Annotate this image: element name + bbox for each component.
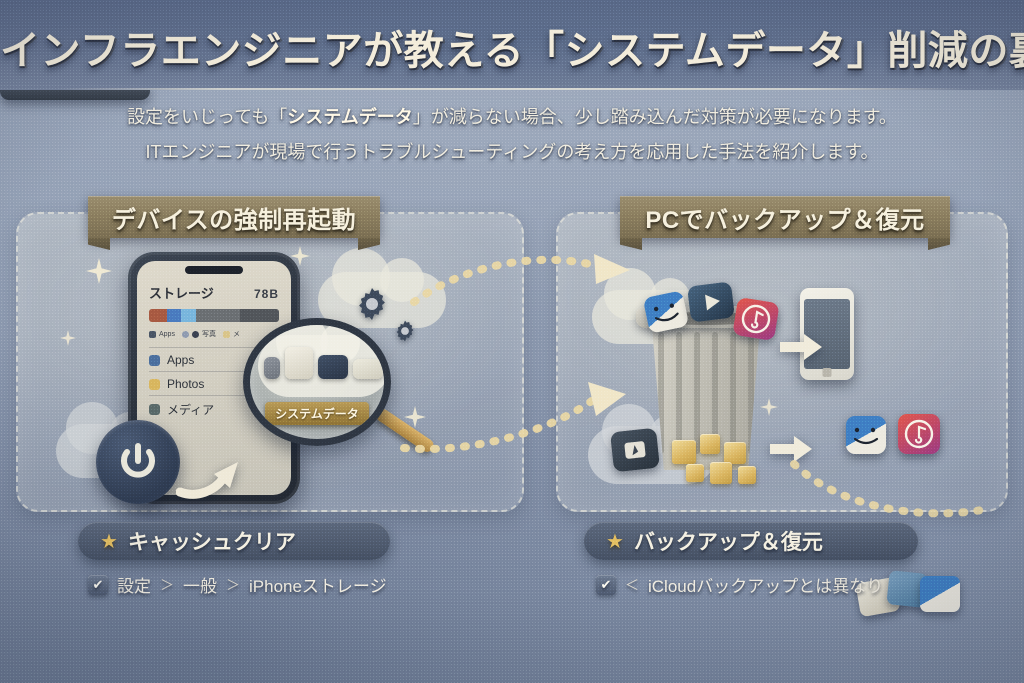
gear-icon <box>352 284 392 324</box>
video-icon <box>687 281 735 322</box>
photo-tile-icon <box>353 359 383 379</box>
gear-small-icon <box>392 318 418 344</box>
storage-legend: Apps 写真 メ <box>149 329 279 339</box>
storage-size-value: 78B <box>254 287 279 301</box>
messages-icon <box>610 428 660 473</box>
system-data-badge: システムデータ <box>265 402 369 425</box>
right-summary-label: バックアップ＆復元 <box>634 526 823 556</box>
subtitle-line-1-part-b: 」が減らない場合、少し踏み込んだ対策が必要になります。 <box>413 107 897 127</box>
star-icon: ★ <box>606 529 624 554</box>
magnifier-lens: システムデータ <box>243 318 391 446</box>
check-icon: ✔ <box>596 575 616 595</box>
document-tile-icon <box>264 357 280 379</box>
page-title: インフラエンジニアが教える「システムデータ」削減の裏技 <box>0 18 1024 76</box>
breadcrumb-left: ✔ 設定 ＞ 一般 ＞ iPhoneストレージ <box>88 572 387 597</box>
phone-notch <box>185 266 243 274</box>
breadcrumb-item-settings: 設定 <box>117 572 151 597</box>
subtitle-line-1-part-a: 設定をいじっても「 <box>127 107 287 127</box>
storage-header: ストレージ 78B <box>149 283 279 302</box>
subtitle-line-1: 設定をいじっても「システムデータ」が減らない場合、少し踏み込んだ対策が必要になり… <box>0 104 1024 131</box>
breadcrumb-separator: ＞ <box>160 575 174 595</box>
breadcrumb-note-text: iCloudバックアップとは異なり <box>648 572 883 597</box>
breadcrumb-item-general: 一般 <box>183 572 217 597</box>
data-cube <box>700 434 720 454</box>
data-cube <box>686 464 704 482</box>
transfer-arrow-to-apps <box>768 432 816 471</box>
legend-item: Apps <box>149 331 175 338</box>
home-button-icon <box>823 368 832 377</box>
breadcrumb-right: ✔ ＜ iCloudバックアップとは異なり <box>596 572 883 597</box>
list-item-label: Photos <box>167 377 204 391</box>
breadcrumb-item-iphone-storage: iPhoneストレージ <box>249 572 387 597</box>
finder-icon <box>920 576 960 612</box>
storage-usage-bar <box>149 309 279 322</box>
subtitle-keyword: システムデータ <box>287 107 412 127</box>
itunes-icon <box>732 297 779 341</box>
right-summary-pill: ★ バックアップ＆復元 <box>584 522 918 560</box>
right-panel-banner: PCでバックアップ＆復元 <box>620 196 950 238</box>
left-summary-label: キャッシュクリア <box>128 526 296 556</box>
itunes-icon <box>898 414 940 454</box>
subtitle-block: 設定をいじっても「システムデータ」が減らない場合、少し踏み込んだ対策が必要になり… <box>0 104 1024 166</box>
legend-item: 写真 <box>182 329 216 339</box>
infographic-canvas: インフラエンジニアが教える「システムデータ」削減の裏技 設定をいじっても「システ… <box>0 0 1024 683</box>
data-cube <box>738 466 756 484</box>
finder-icon <box>846 416 886 454</box>
check-icon: ✔ <box>88 575 108 595</box>
legend-item: メ <box>223 329 240 339</box>
list-item-label: メディア <box>167 401 214 418</box>
star-icon: ★ <box>100 529 118 554</box>
restart-arrow-icon <box>176 452 246 509</box>
list-item-label: Apps <box>167 353 194 367</box>
header-divider <box>58 88 966 90</box>
left-summary-pill: ★ キャッシュクリア <box>78 522 390 560</box>
transfer-arrow-to-pc <box>778 330 826 369</box>
subtitle-line-2: ITエンジニアが現場で行うトラブルシューティングの考え方を応用した手法を紹介しま… <box>0 139 1024 166</box>
waveform-icon <box>318 355 348 379</box>
system-data-tiles <box>264 347 383 379</box>
document-lines-icon <box>285 347 313 379</box>
data-cube <box>672 440 696 464</box>
storage-title: ストレージ <box>149 283 214 302</box>
data-cube <box>710 462 732 484</box>
power-button-icon <box>96 420 180 504</box>
breadcrumb-prefix: ＜ <box>625 575 639 595</box>
breadcrumb-separator: ＞ <box>226 575 240 595</box>
left-panel-banner: デバイスの強制再起動 <box>88 196 380 238</box>
data-cube <box>724 442 746 464</box>
